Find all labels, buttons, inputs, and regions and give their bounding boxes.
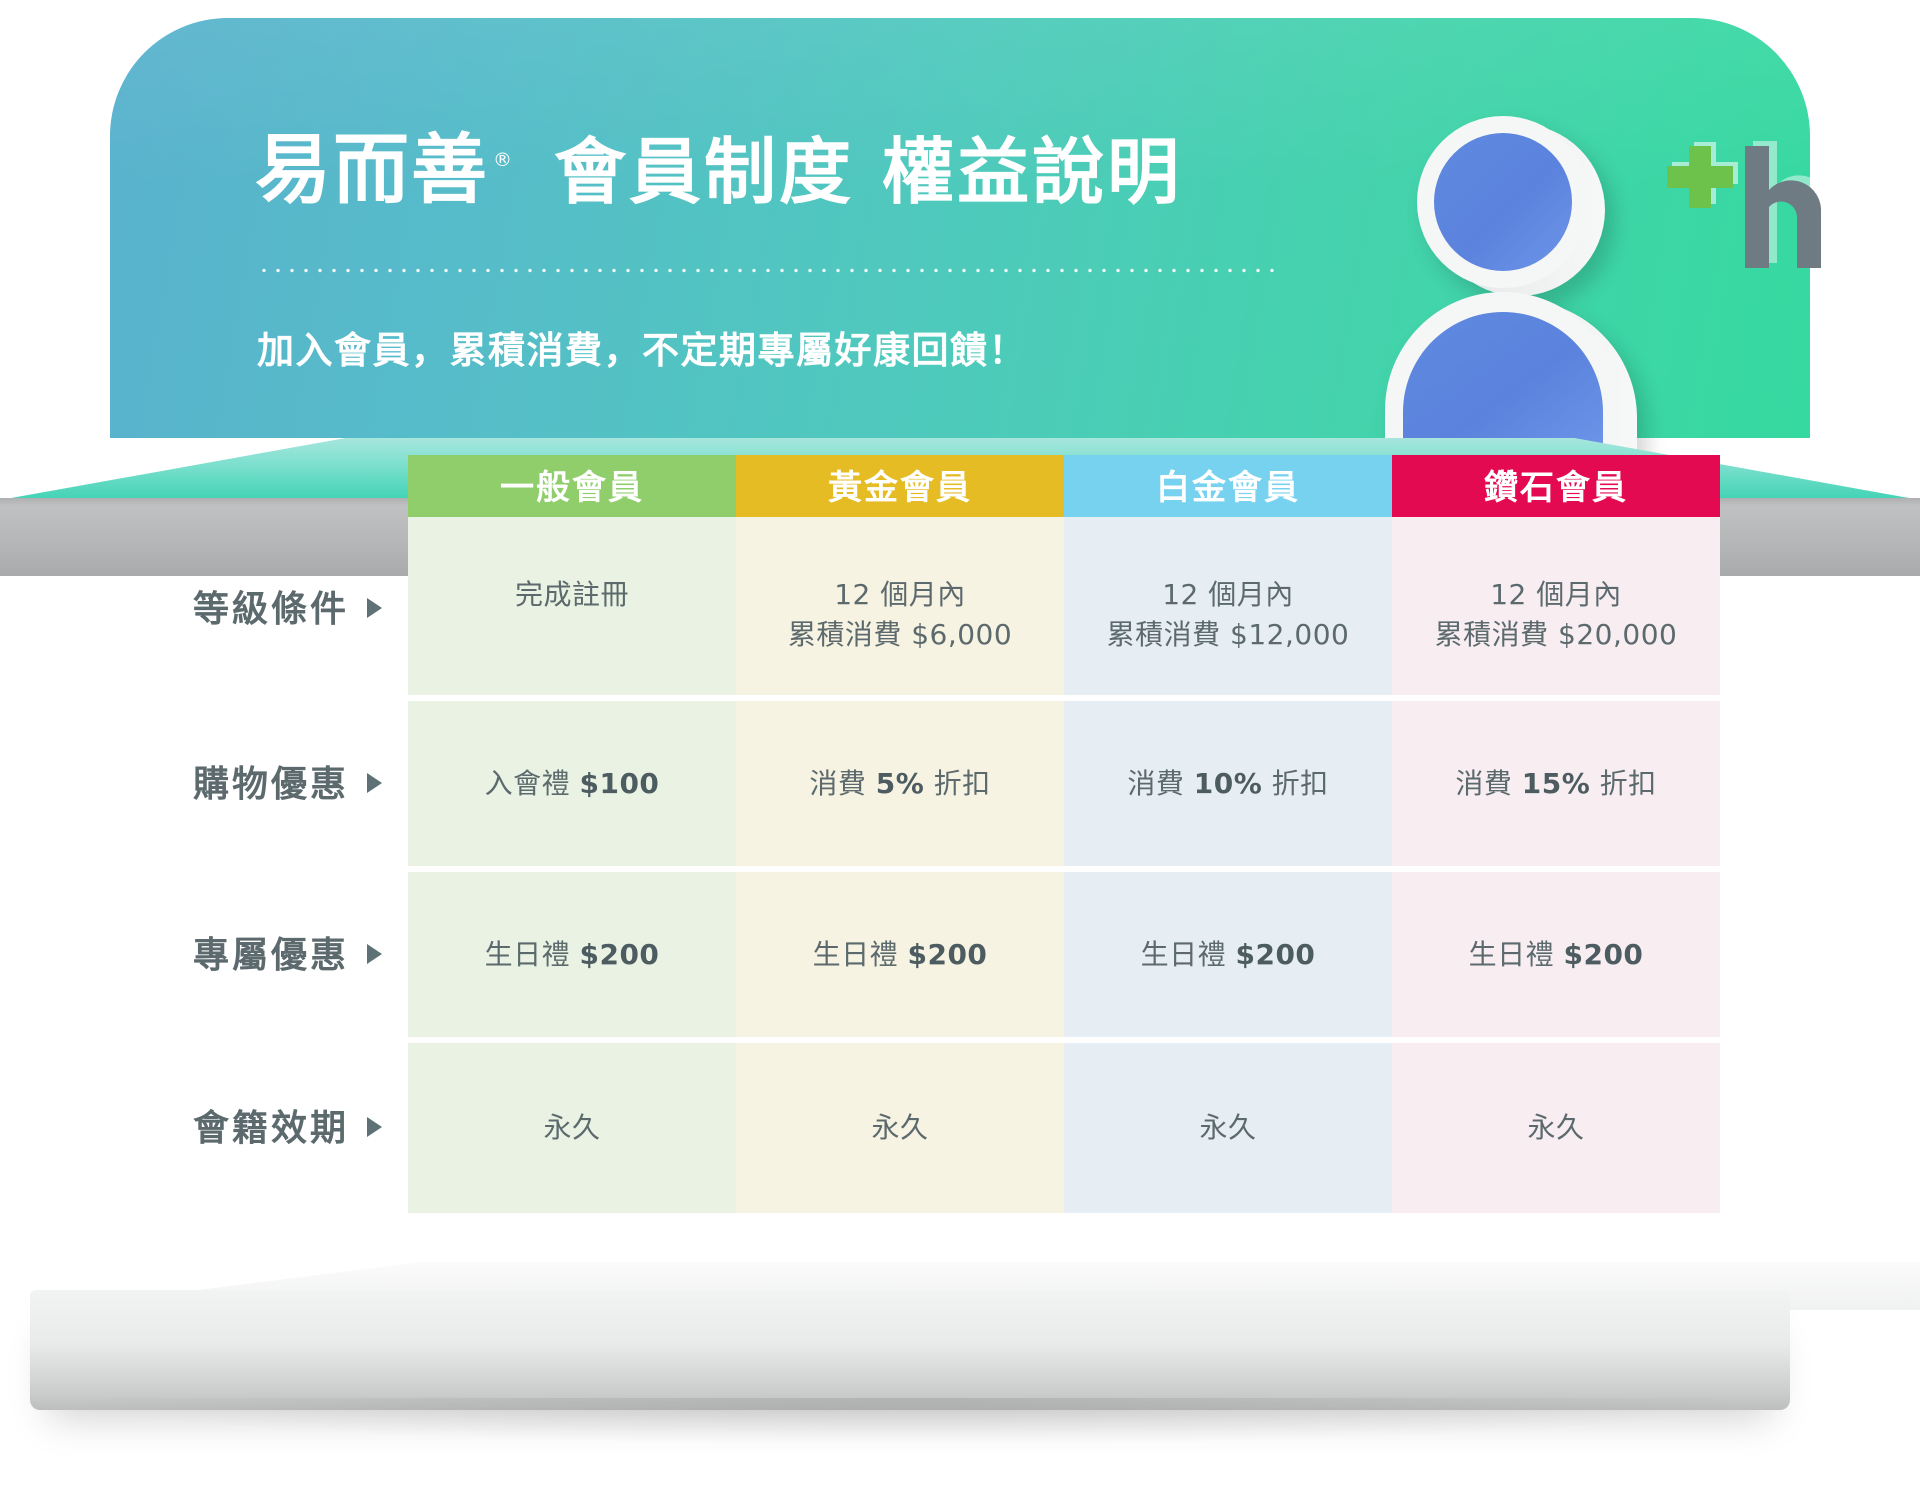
cell-gold-shopping-pre: 消費 [809,767,875,800]
cell-general-shopping: 入會禮 $100 [408,701,736,866]
cell-diamond-shopping: 消費 15% 折扣 [1392,701,1720,866]
cell-diamond-exclusive: 生日禮 $200 [1392,872,1720,1037]
cell-gold-shopping-value: 5% [876,767,925,800]
cell-diamond-exclusive-value: $200 [1563,938,1643,971]
tier-header-platinum[interactable]: 白金會員 [1064,455,1392,517]
row-label-text-2: 購物優惠 [193,755,349,807]
cell-general-exclusive: 生日禮 $200 [408,872,736,1037]
cell-gold-shopping-post: 折扣 [924,767,990,800]
benefits-grid: 完成註冊 入會禮 $100 生日禮 $200 永久 12 個月內 [408,517,1720,1213]
row-label-shopping-benefit: 購物優惠 [0,695,408,866]
brand-title-row: 易而善® 會員制度 權益說明 [255,132,1182,208]
cell-general-exclusive-text: 生日禮 [485,938,580,971]
registered-mark-icon: ® [493,149,514,171]
cell-gold-exclusive: 生日禮 $200 [736,872,1064,1037]
plus-h-logo [1645,140,1825,300]
tier-name-diamond: 鑽石會員 [1484,460,1628,509]
tier-header-general[interactable]: 一般會員 [408,455,736,517]
dotted-divider [257,268,1277,273]
tier-column-general: 完成註冊 入會禮 $100 生日禮 $200 永久 [408,517,736,1213]
cell-platinum-condition-line2: 累積消費 $12,000 [1107,615,1350,655]
tier-column-gold: 12 個月內 累積消費 $6,000 消費 5% 折扣 生日禮 $200 永久 [736,517,1064,1213]
cell-general-condition-line1: 完成註冊 [515,575,629,615]
tier-column-platinum: 12 個月內 累積消費 $12,000 消費 10% 折扣 生日禮 $200 永… [1064,517,1392,1213]
membership-benefits-infographic: 易而善® 會員制度 權益說明 加入會員，累積消費，不定期專屬好康回饋！ [0,0,1920,1497]
brand-logo-text: 易而善 [255,125,489,214]
cell-general-condition: 完成註冊 [408,517,736,695]
row-label-tier-condition: 等級條件 [0,517,408,695]
triangle-right-icon [367,1117,382,1137]
tier-header-diamond[interactable]: 鑽石會員 [1392,455,1720,517]
cell-platinum-condition: 12 個月內 累積消費 $12,000 [1064,517,1392,695]
cell-diamond-shopping-value: 15% [1522,767,1591,800]
cell-general-exclusive-value: $200 [579,938,659,971]
cell-gold-validity: 永久 [736,1043,1064,1213]
cell-gold-exclusive-value: $200 [907,938,987,971]
cell-gold-condition-line1: 12 個月內 [788,575,1012,615]
row-label-membership-validity: 會籍效期 [0,1037,408,1213]
cell-general-shopping-value: $100 [579,767,659,800]
triangle-right-icon [367,944,382,964]
cell-diamond-exclusive-text: 生日禮 [1469,938,1564,971]
row-label-text-1: 等級條件 [193,580,349,632]
cell-platinum-validity: 永久 [1064,1043,1392,1213]
cell-diamond-shopping-post: 折扣 [1590,767,1656,800]
row-label-exclusive-benefit: 專屬優惠 [0,866,408,1037]
brand-logo: 易而善® [255,132,514,208]
cell-general-shopping-text: 入會禮 [485,767,580,800]
benefits-table: 一般會員 黃金會員 白金會員 鑽石會員 [0,455,1920,1355]
cell-platinum-shopping-post: 折扣 [1262,767,1328,800]
cell-diamond-condition-line1: 12 個月內 [1435,575,1678,615]
tier-header-row: 一般會員 黃金會員 白金會員 鑽石會員 [408,455,1720,517]
cell-diamond-condition: 12 個月內 累積消費 $20,000 [1392,517,1720,695]
row-label-text-4: 會籍效期 [193,1099,349,1151]
triangle-right-icon [367,773,382,793]
cell-platinum-exclusive-value: $200 [1235,938,1315,971]
base-platform-shadow [60,1398,1760,1444]
page-subtitle: 加入會員，累積消費，不定期專屬好康回饋！ [257,320,1027,374]
cell-platinum-condition-line1: 12 個月內 [1107,575,1350,615]
letter-h-icon [1745,141,1825,268]
plus-icon [1667,142,1738,208]
cell-platinum-shopping-value: 10% [1194,767,1263,800]
cell-diamond-condition-line2: 累積消費 $20,000 [1435,615,1678,655]
cell-diamond-validity: 永久 [1392,1043,1720,1213]
page-title: 會員制度 權益說明 [554,136,1182,208]
cell-gold-condition: 12 個月內 累積消費 $6,000 [736,517,1064,695]
cell-platinum-exclusive: 生日禮 $200 [1064,872,1392,1037]
triangle-right-icon [367,598,382,618]
row-label-text-3: 專屬優惠 [193,926,349,978]
tier-column-diamond: 12 個月內 累積消費 $20,000 消費 15% 折扣 生日禮 $200 永… [1392,517,1720,1213]
cell-general-validity: 永久 [408,1043,736,1213]
cell-gold-condition-line2: 累積消費 $6,000 [788,615,1012,655]
cell-platinum-shopping-pre: 消費 [1127,767,1193,800]
tier-name-general: 一般會員 [500,460,644,509]
cell-gold-exclusive-text: 生日禮 [813,938,908,971]
row-label-column: 等級條件 購物優惠 專屬優惠 會籍效期 [0,517,408,1213]
cell-diamond-shopping-pre: 消費 [1455,767,1521,800]
tier-name-platinum: 白金會員 [1156,460,1300,509]
cell-platinum-exclusive-text: 生日禮 [1141,938,1236,971]
tier-header-gold[interactable]: 黃金會員 [736,455,1064,517]
tier-name-gold: 黃金會員 [828,460,972,509]
cell-gold-shopping: 消費 5% 折扣 [736,701,1064,866]
cell-platinum-shopping: 消費 10% 折扣 [1064,701,1392,866]
